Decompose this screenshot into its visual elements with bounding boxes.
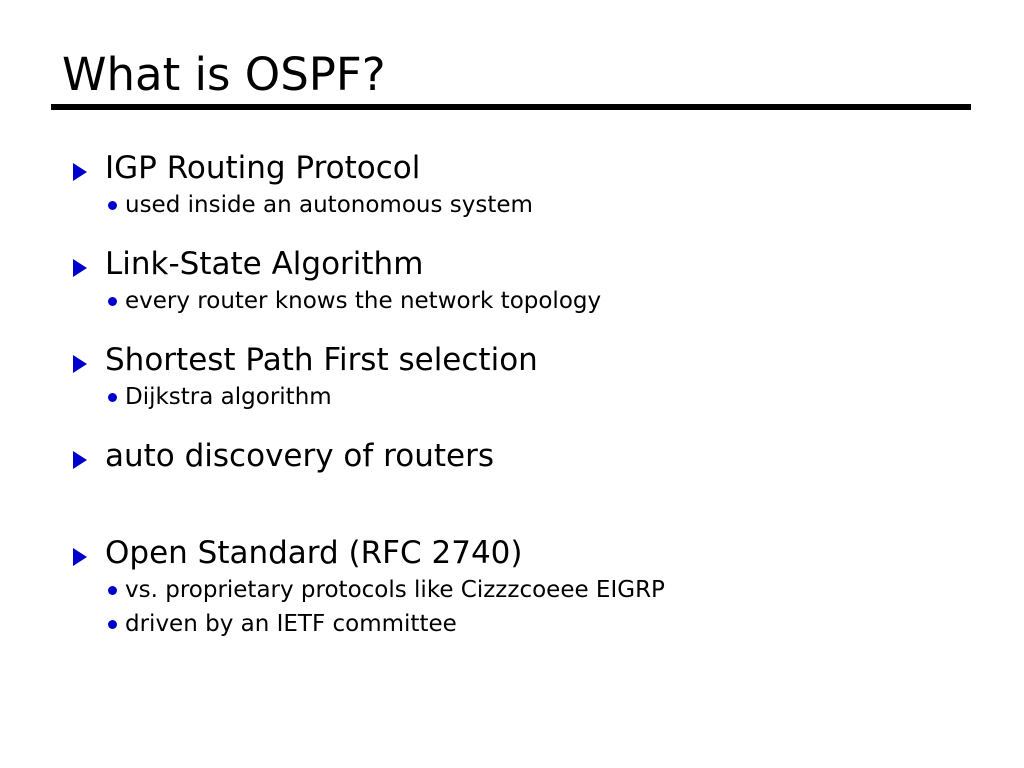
bullet-item-level1: Shortest Path First selection	[0, 340, 1024, 380]
bullet-label-level2: driven by an IETF committee	[125, 611, 457, 637]
triangle-right-bullet-icon	[73, 436, 95, 476]
triangle-right-bullet-icon	[73, 533, 95, 573]
page-title: What is OSPF?	[62, 48, 386, 102]
bullet-label-level2: Dijkstra algorithm	[125, 384, 332, 410]
round-dot-bullet-icon	[108, 607, 120, 641]
sub-bullet-list: every router knows the network topology	[0, 284, 1024, 318]
title-underline-rule	[51, 104, 971, 110]
bullet-group: IGP Routing Protocol used inside an auto…	[0, 148, 1024, 222]
bullet-item-level2: Dijkstra algorithm	[0, 380, 1024, 414]
slide-body: IGP Routing Protocol used inside an auto…	[0, 148, 1024, 653]
bullet-label-level1: Open Standard (RFC 2740)	[105, 535, 523, 571]
bullet-item-level2: every router knows the network topology	[0, 284, 1024, 318]
bullet-label-level1: Link-State Algorithm	[105, 246, 423, 282]
triangle-right-bullet-icon	[73, 340, 95, 380]
bullet-item-level2: driven by an IETF committee	[0, 607, 1024, 641]
bullet-label-level1: auto discovery of routers	[105, 438, 494, 474]
group-spacer	[0, 234, 1024, 244]
group-spacer	[0, 426, 1024, 436]
sub-bullet-list: vs. proprietary protocols like Cizzzcoee…	[0, 573, 1024, 641]
group-spacer	[0, 330, 1024, 340]
bullet-item-level2: used inside an autonomous system	[0, 188, 1024, 222]
bullet-group: Shortest Path First selection Dijkstra a…	[0, 340, 1024, 414]
round-dot-bullet-icon	[108, 573, 120, 607]
bullet-group: auto discovery of routers	[0, 436, 1024, 476]
bullet-label-level2: vs. proprietary protocols like Cizzzcoee…	[125, 577, 665, 603]
bullet-item-level1: auto discovery of routers	[0, 436, 1024, 476]
bullet-item-level2: vs. proprietary protocols like Cizzzcoee…	[0, 573, 1024, 607]
sub-bullet-list: used inside an autonomous system	[0, 188, 1024, 222]
group-spacer	[0, 488, 1024, 533]
bullet-label-level1: IGP Routing Protocol	[105, 150, 420, 186]
presentation-slide: What is OSPF? IGP Routing Protocol used …	[0, 0, 1024, 768]
triangle-right-bullet-icon	[73, 244, 95, 284]
bullet-label-level1: Shortest Path First selection	[105, 342, 538, 378]
bullet-group: Open Standard (RFC 2740) vs. proprietary…	[0, 533, 1024, 641]
bullet-item-level1: Open Standard (RFC 2740)	[0, 533, 1024, 573]
triangle-right-bullet-icon	[73, 148, 95, 188]
bullet-label-level2: every router knows the network topology	[125, 288, 601, 314]
round-dot-bullet-icon	[108, 188, 120, 222]
bullet-group: Link-State Algorithm every router knows …	[0, 244, 1024, 318]
sub-bullet-list: Dijkstra algorithm	[0, 380, 1024, 414]
bullet-item-level1: Link-State Algorithm	[0, 244, 1024, 284]
bullet-item-level1: IGP Routing Protocol	[0, 148, 1024, 188]
bullet-label-level2: used inside an autonomous system	[125, 192, 533, 218]
round-dot-bullet-icon	[108, 284, 120, 318]
round-dot-bullet-icon	[108, 380, 120, 414]
